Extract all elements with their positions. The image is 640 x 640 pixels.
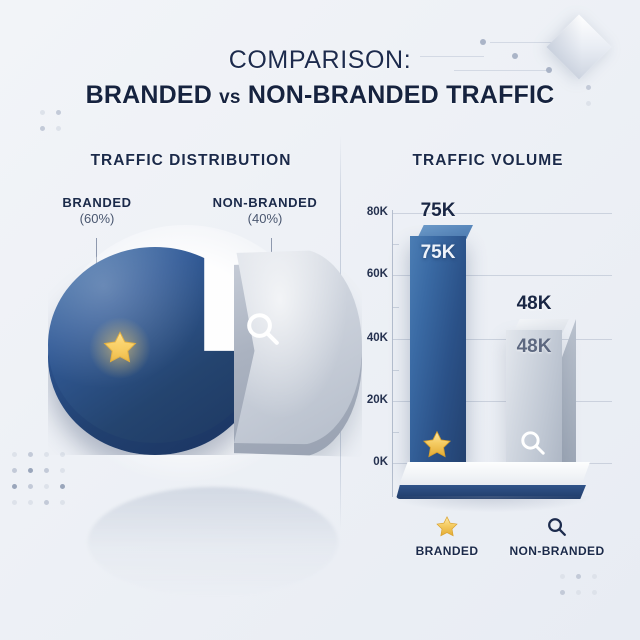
- y-tick-label-80k: 80K: [356, 206, 388, 218]
- legend-item-branded[interactable]: BRANDED: [392, 512, 502, 558]
- title-line-2: BRANDED vs NON-BRANDED TRAFFIC: [0, 81, 640, 110]
- gridline-minor-50k: [392, 307, 399, 308]
- y-tick-label-0k: 0K: [356, 456, 388, 468]
- section-title-traffic-distribution: TRAFFIC DISTRIBUTION: [46, 152, 336, 170]
- bar-nonbranded-inner-value: 48K: [506, 336, 562, 358]
- pie-label-nonbranded-name: NON-BRANDED: [185, 195, 345, 210]
- pie-label-branded-percent: (60%): [22, 211, 172, 226]
- y-axis-line: [392, 210, 393, 497]
- legend-star-icon: [392, 512, 502, 542]
- title-branded: BRANDED: [86, 81, 212, 109]
- decorative-dot-grid-top-left: [40, 110, 61, 131]
- pie-label-branded-name: BRANDED: [22, 195, 172, 210]
- y-tick-label-60k: 60K: [356, 268, 388, 280]
- gridline-minor-30k: [392, 370, 399, 371]
- legend-magnifier-icon: [492, 512, 622, 542]
- y-tick-label-20k: 20K: [356, 394, 388, 406]
- legend-label-branded: BRANDED: [392, 544, 502, 558]
- gridline-minor-70k: [392, 244, 399, 245]
- section-title-traffic-volume: TRAFFIC VOLUME: [358, 152, 618, 170]
- pie-chart-traffic-distribution: [38, 225, 338, 515]
- title-vs: vs: [219, 87, 241, 108]
- legend-label-nonbranded: NON-BRANDED: [492, 544, 622, 558]
- bar-platform-shadow: [392, 496, 590, 512]
- pie-label-branded: BRANDED (60%): [22, 195, 172, 226]
- bar-branded-value-label: 75K: [408, 200, 468, 222]
- pie-reflection: [88, 487, 338, 597]
- bar-branded-inner-value: 75K: [410, 242, 466, 264]
- pie-label-nonbranded: NON-BRANDED (40%): [185, 195, 345, 226]
- pie-label-nonbranded-percent: (40%): [185, 211, 345, 226]
- magnifier-icon: [240, 306, 286, 352]
- y-tick-label-40k: 40K: [356, 332, 388, 344]
- star-icon-on-bar: [420, 428, 456, 464]
- star-icon: [97, 325, 143, 371]
- title-line-1: COMPARISON:: [0, 46, 640, 75]
- gridline-minor-10k: [392, 432, 399, 433]
- page-title: COMPARISON: BRANDED vs NON-BRANDED TRAFF…: [0, 46, 640, 110]
- infographic-canvas: COMPARISON: BRANDED vs NON-BRANDED TRAFF…: [0, 0, 640, 640]
- title-nonbranded: NON-BRANDED TRAFFIC: [248, 81, 555, 109]
- bar-platform-top: [398, 462, 590, 488]
- legend-item-nonbranded[interactable]: NON-BRANDED: [492, 512, 622, 558]
- bar-nonbranded-value-label: 48K: [504, 293, 564, 315]
- magnifier-icon-on-bar: [516, 426, 552, 462]
- decorative-dot-grid-bottom-right: [560, 574, 597, 595]
- bar-chart-traffic-volume: 80K 60K 40K 20K 0K: [356, 196, 618, 496]
